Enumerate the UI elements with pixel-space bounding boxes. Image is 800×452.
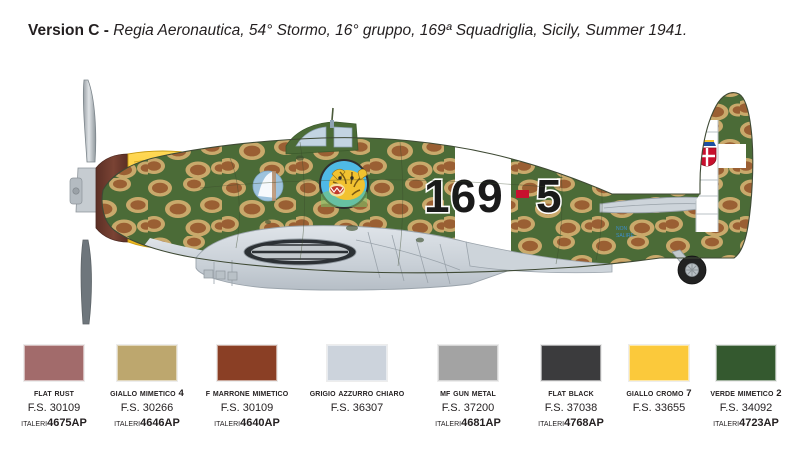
version-caption: Version C - Regia Aeronautica, 54° Storm… [28, 18, 728, 43]
swatch-name: Verde Mimetico 2 [692, 388, 800, 399]
swatch-italeri-code: Italeri4681AP [414, 417, 522, 429]
swatch-grigio-azzurro-chiaro: Grigio Azzurro Chiaro F.S. 36307 [303, 345, 411, 417]
swatch-chip [327, 345, 387, 381]
code-separator-dash [516, 190, 529, 198]
swatch-fs-code: F.S. 36307 [303, 402, 411, 414]
fuselage-code: 169 5 [424, 170, 562, 222]
swatch-name: MF Gun Metal [414, 388, 522, 399]
caption-text: Regia Aeronautica, 54° Stormo, 16° grupp… [113, 22, 687, 39]
brand-label: Italeri [214, 417, 240, 429]
paint-code: 4640AP [240, 417, 280, 429]
version-label: Version C [28, 22, 100, 39]
svg-text:NON: NON [616, 226, 628, 232]
swatch-italeri-code: Italeri4723AP [692, 417, 800, 429]
swatch-italeri-code: Italeri4646AP [93, 417, 201, 429]
paint-code: 4675AP [47, 417, 87, 429]
fuselage-code-number: 169 [424, 170, 504, 222]
individual-aircraft-number: 5 [536, 170, 562, 222]
swatch-fs-code: F.S. 30109 [0, 402, 108, 414]
savoy-cross-vertical [696, 120, 718, 232]
swatch-chip [541, 345, 601, 381]
paint-code: 4681AP [461, 417, 501, 429]
brand-label: Italeri [21, 417, 47, 429]
tail-stencil: Reggiane Re.2000 Serie I M.M. 408 [644, 130, 668, 160]
brand-label: Italeri [435, 417, 461, 429]
svg-text:Reggiane: Reggiane [644, 130, 668, 136]
brand-label: Italeri [713, 417, 739, 429]
brand-label: Italeri [114, 417, 140, 429]
brand-label: Italeri [538, 417, 564, 429]
swatch-fs-code: F.S. 37200 [414, 402, 522, 414]
forward-roundel [253, 171, 283, 201]
swatch-name: F Marrone Mimetico [193, 388, 301, 399]
paint-scheme-page: Version C - Regia Aeronautica, 54° Storm… [0, 0, 800, 452]
swatch-name: Flat Rust [0, 388, 108, 399]
swatch-chip [117, 345, 177, 381]
swatch-chip [24, 345, 84, 381]
swatch-chip [217, 345, 277, 381]
swatch-chip [629, 345, 689, 381]
paint-code: 4723AP [739, 417, 779, 429]
squadron-emblem [319, 159, 369, 209]
swatch-flat-rust: Flat Rust F.S. 30109 Italeri4675AP [0, 345, 108, 429]
swatch-chip [716, 345, 776, 381]
swatch-fs-code: F.S. 30109 [193, 402, 301, 414]
svg-text:M.M. 408: M.M. 408 [644, 154, 667, 160]
swatch-fs-code: F.S. 34092 [692, 402, 800, 414]
svg-text:SALIRE: SALIRE [616, 233, 634, 239]
paint-color-legend: Flat Rust F.S. 30109 Italeri4675AP Giall… [0, 345, 800, 452]
cockpit-canopy [286, 108, 358, 154]
swatch-f-marrone-mimetico: F Marrone Mimetico F.S. 30109 Italeri464… [193, 345, 301, 429]
svg-text:Serie I: Serie I [644, 146, 660, 152]
swatch-mf-gun-metal: MF Gun Metal F.S. 37200 Italeri4681AP [414, 345, 522, 429]
swatch-verde-mimetico-2: Verde Mimetico 2 F.S. 34092 Italeri4723A… [692, 345, 800, 429]
swatch-giallo-mimetico-4: Giallo Mimetico 4 F.S. 30266 Italeri4646… [93, 345, 201, 429]
canopy-glass-rear [334, 127, 352, 147]
swatch-name: Grigio Azzurro Chiaro [303, 388, 411, 399]
swatch-chip [438, 345, 498, 381]
svg-text:Re.2000: Re.2000 [644, 138, 665, 144]
paint-code: 4646AP [140, 417, 180, 429]
caption-separator: - [100, 22, 114, 39]
swatch-name: Giallo Mimetico 4 [93, 388, 201, 399]
swatch-italeri-code: Italeri4768AP [517, 417, 625, 429]
swatch-italeri-code: Italeri4675AP [0, 417, 108, 429]
swatch-fs-code: F.S. 30266 [93, 402, 201, 414]
paint-code: 4768AP [564, 417, 604, 429]
swatch-italeri-code: Italeri4640AP [193, 417, 301, 429]
aircraft-profile-illustration: 169 5 [0, 62, 800, 332]
